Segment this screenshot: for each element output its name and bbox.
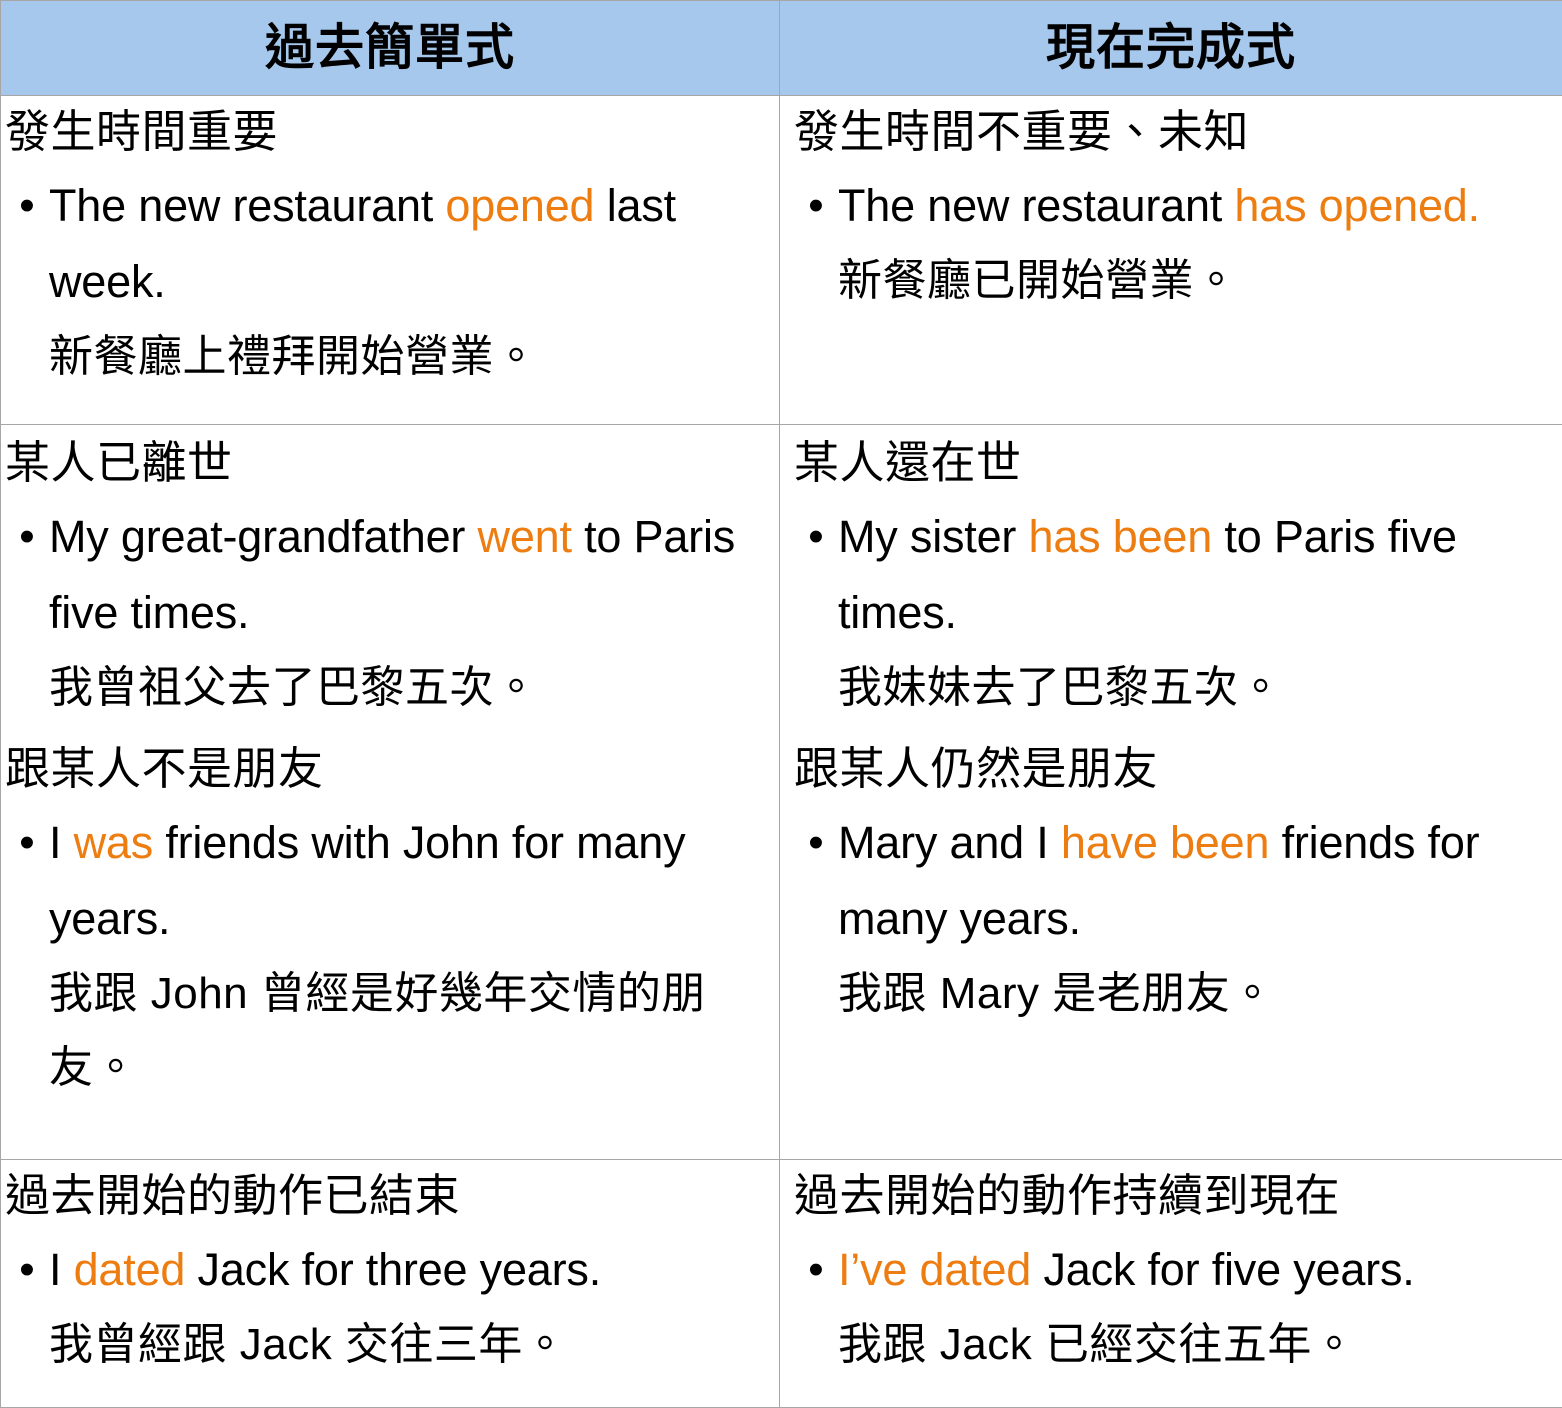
example-sentence-english: Mary and I have been friends for many ye… — [838, 805, 1556, 957]
table-row: 發生時間重要•The new restaurant opened last we… — [1, 96, 1562, 425]
bullet-row: •Mary and I have been friends for many y… — [794, 805, 1556, 1031]
example-sentence-english: I’ve dated Jack for five years. — [838, 1232, 1556, 1308]
table-cell-present-perfect: 發生時間不重要、未知•The new restaurant has opened… — [780, 96, 1562, 425]
highlighted-verb: opened — [445, 180, 594, 231]
highlighted-verb: was — [74, 817, 153, 868]
bullet-body: The new restaurant opened last week.新餐廳上… — [49, 168, 773, 394]
usage-category-label: 發生時間不重要、未知 — [794, 102, 1556, 162]
bullet-body: My sister has been to Paris five times.我… — [838, 499, 1556, 725]
bullet-row: •My great-grandfather went to Paris five… — [5, 499, 773, 725]
bullet-body: The new restaurant has opened.新餐廳已開始營業。 — [838, 168, 1556, 318]
example-sentence-chinese: 我曾祖父去了巴黎五次。 — [49, 651, 773, 725]
example-sentence-english: My sister has been to Paris five times. — [838, 499, 1556, 651]
highlighted-verb: have been — [1061, 817, 1269, 868]
bullet-body: I dated Jack for three years.我曾經跟 Jack 交… — [49, 1232, 773, 1382]
example-sentence-chinese: 我跟 Jack 已經交往五年。 — [838, 1308, 1556, 1382]
table-cell-present-perfect: 某人還在世•My sister has been to Paris five t… — [780, 424, 1562, 1159]
highlighted-verb: went — [478, 511, 572, 562]
highlighted-verb: I’ve dated — [838, 1244, 1031, 1295]
sentence-text: The new restaurant — [49, 180, 445, 231]
bullet-body: I was friends with John for many years.我… — [49, 805, 773, 1105]
bullet-point-icon: • — [794, 1232, 838, 1308]
bullet-point-icon: • — [5, 499, 49, 575]
example-bullet-item: •My sister has been to Paris five times.… — [794, 499, 1556, 725]
example-sentence-chinese: 我跟 John 曾經是好幾年交情的朋友。 — [49, 957, 773, 1105]
sentence-text: Mary and I — [838, 817, 1061, 868]
usage-category-label: 某人還在世 — [794, 433, 1556, 493]
example-sentence-chinese: 新餐廳上禮拜開始營業。 — [49, 320, 773, 394]
table-body: 發生時間重要•The new restaurant opened last we… — [1, 96, 1562, 1408]
example-bullet-item: •The new restaurant has opened.新餐廳已開始營業。 — [794, 168, 1556, 318]
bullet-body: My great-grandfather went to Paris five … — [49, 499, 773, 725]
bullet-body: Mary and I have been friends for many ye… — [838, 805, 1556, 1031]
table-row: 過去開始的動作已結束•I dated Jack for three years.… — [1, 1160, 1562, 1408]
tense-comparison-table: 過去簡單式 現在完成式 發生時間重要•The new restaurant op… — [0, 0, 1562, 1408]
highlighted-verb: dated — [74, 1244, 186, 1295]
example-bullet-item: •I was friends with John for many years.… — [5, 805, 773, 1105]
highlighted-verb: has opened. — [1234, 180, 1480, 231]
sentence-text: I — [49, 817, 74, 868]
bullet-row: •The new restaurant has opened.新餐廳已開始營業。 — [794, 168, 1556, 318]
example-sentence-chinese: 新餐廳已開始營業。 — [838, 244, 1556, 318]
bullet-row: •I’ve dated Jack for five years.我跟 Jack … — [794, 1232, 1556, 1382]
sentence-text: Jack for five years. — [1031, 1244, 1414, 1295]
bullet-body: I’ve dated Jack for five years.我跟 Jack 已… — [838, 1232, 1556, 1382]
example-bullet-item: •Mary and I have been friends for many y… — [794, 805, 1556, 1031]
bullet-row: •I was friends with John for many years.… — [5, 805, 773, 1105]
example-bullet-item: •The new restaurant opened last week.新餐廳… — [5, 168, 773, 394]
highlighted-verb: has been — [1029, 511, 1213, 562]
usage-category-label: 某人已離世 — [5, 433, 773, 493]
bullet-point-icon: • — [794, 168, 838, 244]
example-sentence-chinese: 我曾經跟 Jack 交往三年。 — [49, 1308, 773, 1382]
usage-category-label: 發生時間重要 — [5, 102, 773, 162]
bullet-point-icon: • — [5, 1232, 49, 1308]
example-sentence-english: The new restaurant has opened. — [838, 168, 1556, 244]
bullet-point-icon: • — [794, 805, 838, 881]
table-header: 過去簡單式 現在完成式 — [1, 1, 1562, 96]
table-cell-past-simple: 某人已離世•My great-grandfather went to Paris… — [1, 424, 780, 1159]
example-sentence-english: The new restaurant opened last week. — [49, 168, 773, 320]
table-cell-past-simple: 過去開始的動作已結束•I dated Jack for three years.… — [1, 1160, 780, 1408]
example-sentence-english: My great-grandfather went to Paris five … — [49, 499, 773, 651]
usage-category-label: 過去開始的動作已結束 — [5, 1166, 773, 1226]
example-sentence-english: I dated Jack for three years. — [49, 1232, 773, 1308]
usage-category-label: 過去開始的動作持續到現在 — [794, 1166, 1556, 1226]
usage-category-label: 跟某人仍然是朋友 — [794, 739, 1556, 799]
column-header-past-simple: 過去簡單式 — [1, 1, 780, 96]
sentence-text: I — [49, 1244, 74, 1295]
bullet-row: •The new restaurant opened last week.新餐廳… — [5, 168, 773, 394]
header-row: 過去簡單式 現在完成式 — [1, 1, 1562, 96]
table-row: 某人已離世•My great-grandfather went to Paris… — [1, 424, 1562, 1159]
bullet-row: •I dated Jack for three years.我曾經跟 Jack … — [5, 1232, 773, 1382]
bullet-point-icon: • — [5, 168, 49, 244]
bullet-point-icon: • — [794, 499, 838, 575]
bullet-point-icon: • — [5, 805, 49, 881]
bullet-row: •My sister has been to Paris five times.… — [794, 499, 1556, 725]
table-cell-present-perfect: 過去開始的動作持續到現在•I’ve dated Jack for five ye… — [780, 1160, 1562, 1408]
example-bullet-item: •My great-grandfather went to Paris five… — [5, 499, 773, 725]
example-sentence-chinese: 我妹妹去了巴黎五次。 — [838, 651, 1556, 725]
table-cell-past-simple: 發生時間重要•The new restaurant opened last we… — [1, 96, 780, 425]
example-bullet-item: •I dated Jack for three years.我曾經跟 Jack … — [5, 1232, 773, 1382]
example-bullet-item: •I’ve dated Jack for five years.我跟 Jack … — [794, 1232, 1556, 1382]
column-header-present-perfect: 現在完成式 — [780, 1, 1562, 96]
sentence-text: My great-grandfather — [49, 511, 478, 562]
example-sentence-chinese: 我跟 Mary 是老朋友。 — [838, 957, 1556, 1031]
sentence-text: My sister — [838, 511, 1029, 562]
usage-category-label: 跟某人不是朋友 — [5, 739, 773, 799]
sentence-text: The new restaurant — [838, 180, 1234, 231]
sentence-text: Jack for three years. — [185, 1244, 601, 1295]
example-sentence-english: I was friends with John for many years. — [49, 805, 773, 957]
